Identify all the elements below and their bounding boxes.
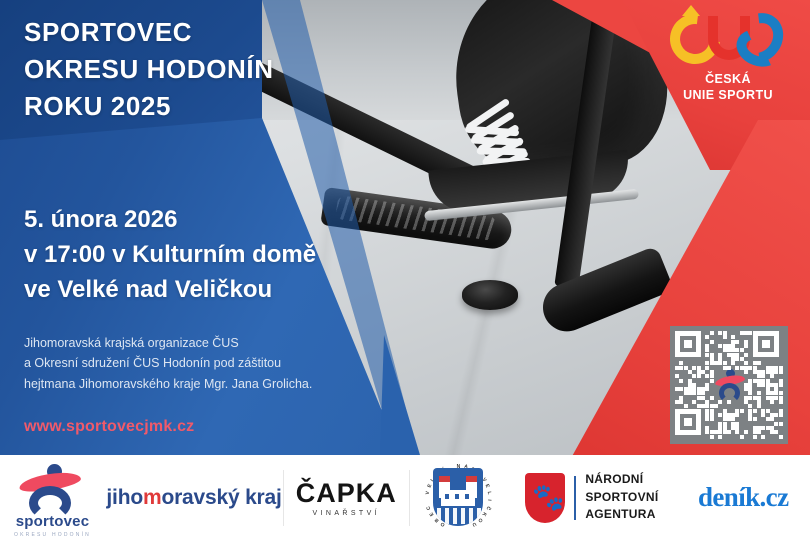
capka-logo-mark: ČAPKA VINAŘSTVÍ bbox=[296, 478, 397, 517]
jmk-part2: oravský kraj bbox=[161, 486, 281, 509]
qr-code[interactable] bbox=[670, 326, 788, 444]
czech-lion-shield-icon: 🐾 bbox=[525, 473, 565, 523]
coat-of-arms-shield bbox=[433, 468, 483, 526]
headline-line-1: SPORTOVEC bbox=[24, 14, 274, 51]
cus-logo-text: ČESKÁ UNIE SPORTU bbox=[660, 72, 796, 103]
qr-module bbox=[779, 413, 783, 417]
nsa-line-3: AGENTURA bbox=[585, 506, 658, 523]
qr-module bbox=[710, 331, 714, 335]
jmk-accent-letter: m bbox=[143, 486, 161, 509]
nsa-line-2: SPORTOVNÍ bbox=[585, 489, 658, 506]
qr-code-canvas bbox=[675, 331, 783, 439]
qr-finder-pattern bbox=[675, 331, 701, 357]
capka-subtitle: VINAŘSTVÍ bbox=[296, 510, 397, 517]
website-link[interactable]: www.sportovecjmk.cz bbox=[24, 418, 194, 436]
ring-text-char: V bbox=[424, 491, 430, 495]
window-2-icon bbox=[455, 494, 459, 499]
logo-narodni-sportovni-agentura[interactable]: 🐾 NÁRODNÍ SPORTOVNÍ AGENTURA bbox=[507, 455, 676, 540]
lion-glyph-icon: 🐾 bbox=[532, 479, 558, 515]
qr-center-sportovec-icon bbox=[713, 367, 747, 401]
page-title: SPORTOVEC OKRESU HODONÍN ROKU 2025 bbox=[24, 14, 274, 125]
qr-module bbox=[779, 370, 783, 374]
qr-module bbox=[723, 335, 727, 339]
qr-module bbox=[710, 340, 714, 344]
ring-text-char: L bbox=[486, 491, 492, 495]
qr-module bbox=[710, 417, 714, 421]
sponsor-logo-bar: sportovec OKRESU HODONÍN jihomoravský kr… bbox=[0, 455, 810, 540]
qr-module bbox=[753, 409, 757, 413]
qr-module bbox=[744, 370, 748, 374]
qr-module bbox=[718, 400, 722, 404]
qr-module bbox=[710, 435, 714, 439]
qr-module bbox=[735, 413, 739, 417]
qr-module bbox=[779, 383, 783, 387]
cus-logo: ČESKÁ UNIE SPORTU bbox=[660, 8, 796, 108]
qr-module bbox=[710, 396, 714, 400]
ring-text-char: Č bbox=[484, 505, 491, 510]
window-3-icon bbox=[465, 494, 469, 499]
nsa-wordmark: NÁRODNÍ SPORTOVNÍ AGENTURA bbox=[585, 471, 658, 523]
qr-module bbox=[744, 344, 748, 348]
capka-wordmark: ČAPKA bbox=[296, 478, 397, 509]
qr-module bbox=[735, 340, 739, 344]
qr-module bbox=[779, 422, 783, 426]
qr-module bbox=[744, 430, 748, 434]
ring-text-char: E bbox=[484, 483, 491, 488]
qr-module bbox=[727, 366, 731, 370]
event-date: 5. února 2026 bbox=[24, 203, 316, 238]
qr-module bbox=[779, 435, 783, 439]
ring-text-char: E bbox=[426, 483, 433, 488]
qr-finder-pattern bbox=[753, 331, 779, 357]
event-location: ve Velké nad Veličkou bbox=[24, 273, 316, 308]
organizer-line-3: hejtmana Jihomoravského kraje Mgr. Jana … bbox=[24, 374, 312, 394]
qr-module bbox=[718, 435, 722, 439]
nsa-line-1: NÁRODNÍ bbox=[585, 471, 658, 488]
qr-module bbox=[740, 435, 744, 439]
qr-module bbox=[753, 435, 757, 439]
qr-module bbox=[761, 435, 765, 439]
qr-module bbox=[705, 387, 709, 391]
headline-line-2: OKRESU HODONÍN bbox=[24, 51, 274, 88]
organizer-line-2: a Okresní sdružení ČUS Hodonín pod zášti… bbox=[24, 353, 312, 373]
cus-logo-line-2: UNIE SPORTU bbox=[660, 88, 796, 104]
ring-text-char: I bbox=[486, 499, 492, 501]
jmk-wordmark: jihomoravský kraj bbox=[106, 486, 281, 510]
qr-module bbox=[679, 379, 683, 383]
logo-capka-vinarstvi[interactable]: ČAPKA VINAŘSTVÍ bbox=[284, 455, 409, 540]
hockey-puck bbox=[462, 280, 518, 310]
qr-module bbox=[744, 353, 748, 357]
qr-module bbox=[710, 379, 714, 383]
qr-module bbox=[753, 417, 757, 421]
qr-module bbox=[770, 374, 774, 378]
ring-text-char: C bbox=[426, 505, 433, 510]
qr-module bbox=[779, 400, 783, 404]
event-time-venue: v 17:00 v Kulturním domě bbox=[24, 238, 316, 273]
logo-denik-cz[interactable]: deník.cz bbox=[676, 455, 810, 540]
jmk-part1: jiho bbox=[106, 486, 143, 509]
organizer-note: Jihomoravská krajská organizace ČUS a Ok… bbox=[24, 333, 312, 394]
organizer-line-1: Jihomoravská krajská organizace ČUS bbox=[24, 333, 312, 353]
qr-module bbox=[697, 374, 701, 378]
nsa-divider bbox=[574, 476, 576, 520]
qr-module bbox=[770, 400, 774, 404]
poster-root: SPORTOVEC OKRESU HODONÍN ROKU 2025 5. ún… bbox=[0, 0, 810, 540]
event-datetime-venue: 5. února 2026 v 17:00 v Kulturním domě v… bbox=[24, 203, 316, 307]
qr-module bbox=[714, 404, 718, 408]
sportovec-logo-mark: sportovec OKRESU HODONÍN bbox=[3, 462, 103, 534]
window-1-icon bbox=[445, 494, 449, 499]
qr-finder-pattern bbox=[675, 409, 701, 435]
sportovec-wordmark: sportovec bbox=[3, 513, 103, 530]
qr-module bbox=[740, 409, 744, 413]
logo-obec-velka-nad-velickou[interactable]: OBEC VELKÁ NAD VELIČKOU bbox=[409, 455, 507, 540]
cus-logo-mark bbox=[660, 8, 796, 70]
logo-jihomoravsky-kraj[interactable]: jihomoravský kraj bbox=[105, 455, 283, 540]
logo-sportovec[interactable]: sportovec OKRESU HODONÍN bbox=[0, 455, 105, 540]
qr-module bbox=[727, 430, 731, 434]
denik-wordmark: deník.cz bbox=[698, 482, 788, 513]
water-waves-icon bbox=[433, 508, 483, 524]
sportovec-subtitle: OKRESU HODONÍN bbox=[3, 532, 103, 538]
qr-module bbox=[757, 361, 761, 365]
headline-line-3: ROKU 2025 bbox=[24, 88, 274, 125]
municipal-coat-of-arms-icon: OBEC VELKÁ NAD VELIČKOU bbox=[424, 463, 492, 533]
cus-logo-line-1: ČESKÁ bbox=[660, 72, 796, 88]
qr-module bbox=[727, 400, 731, 404]
